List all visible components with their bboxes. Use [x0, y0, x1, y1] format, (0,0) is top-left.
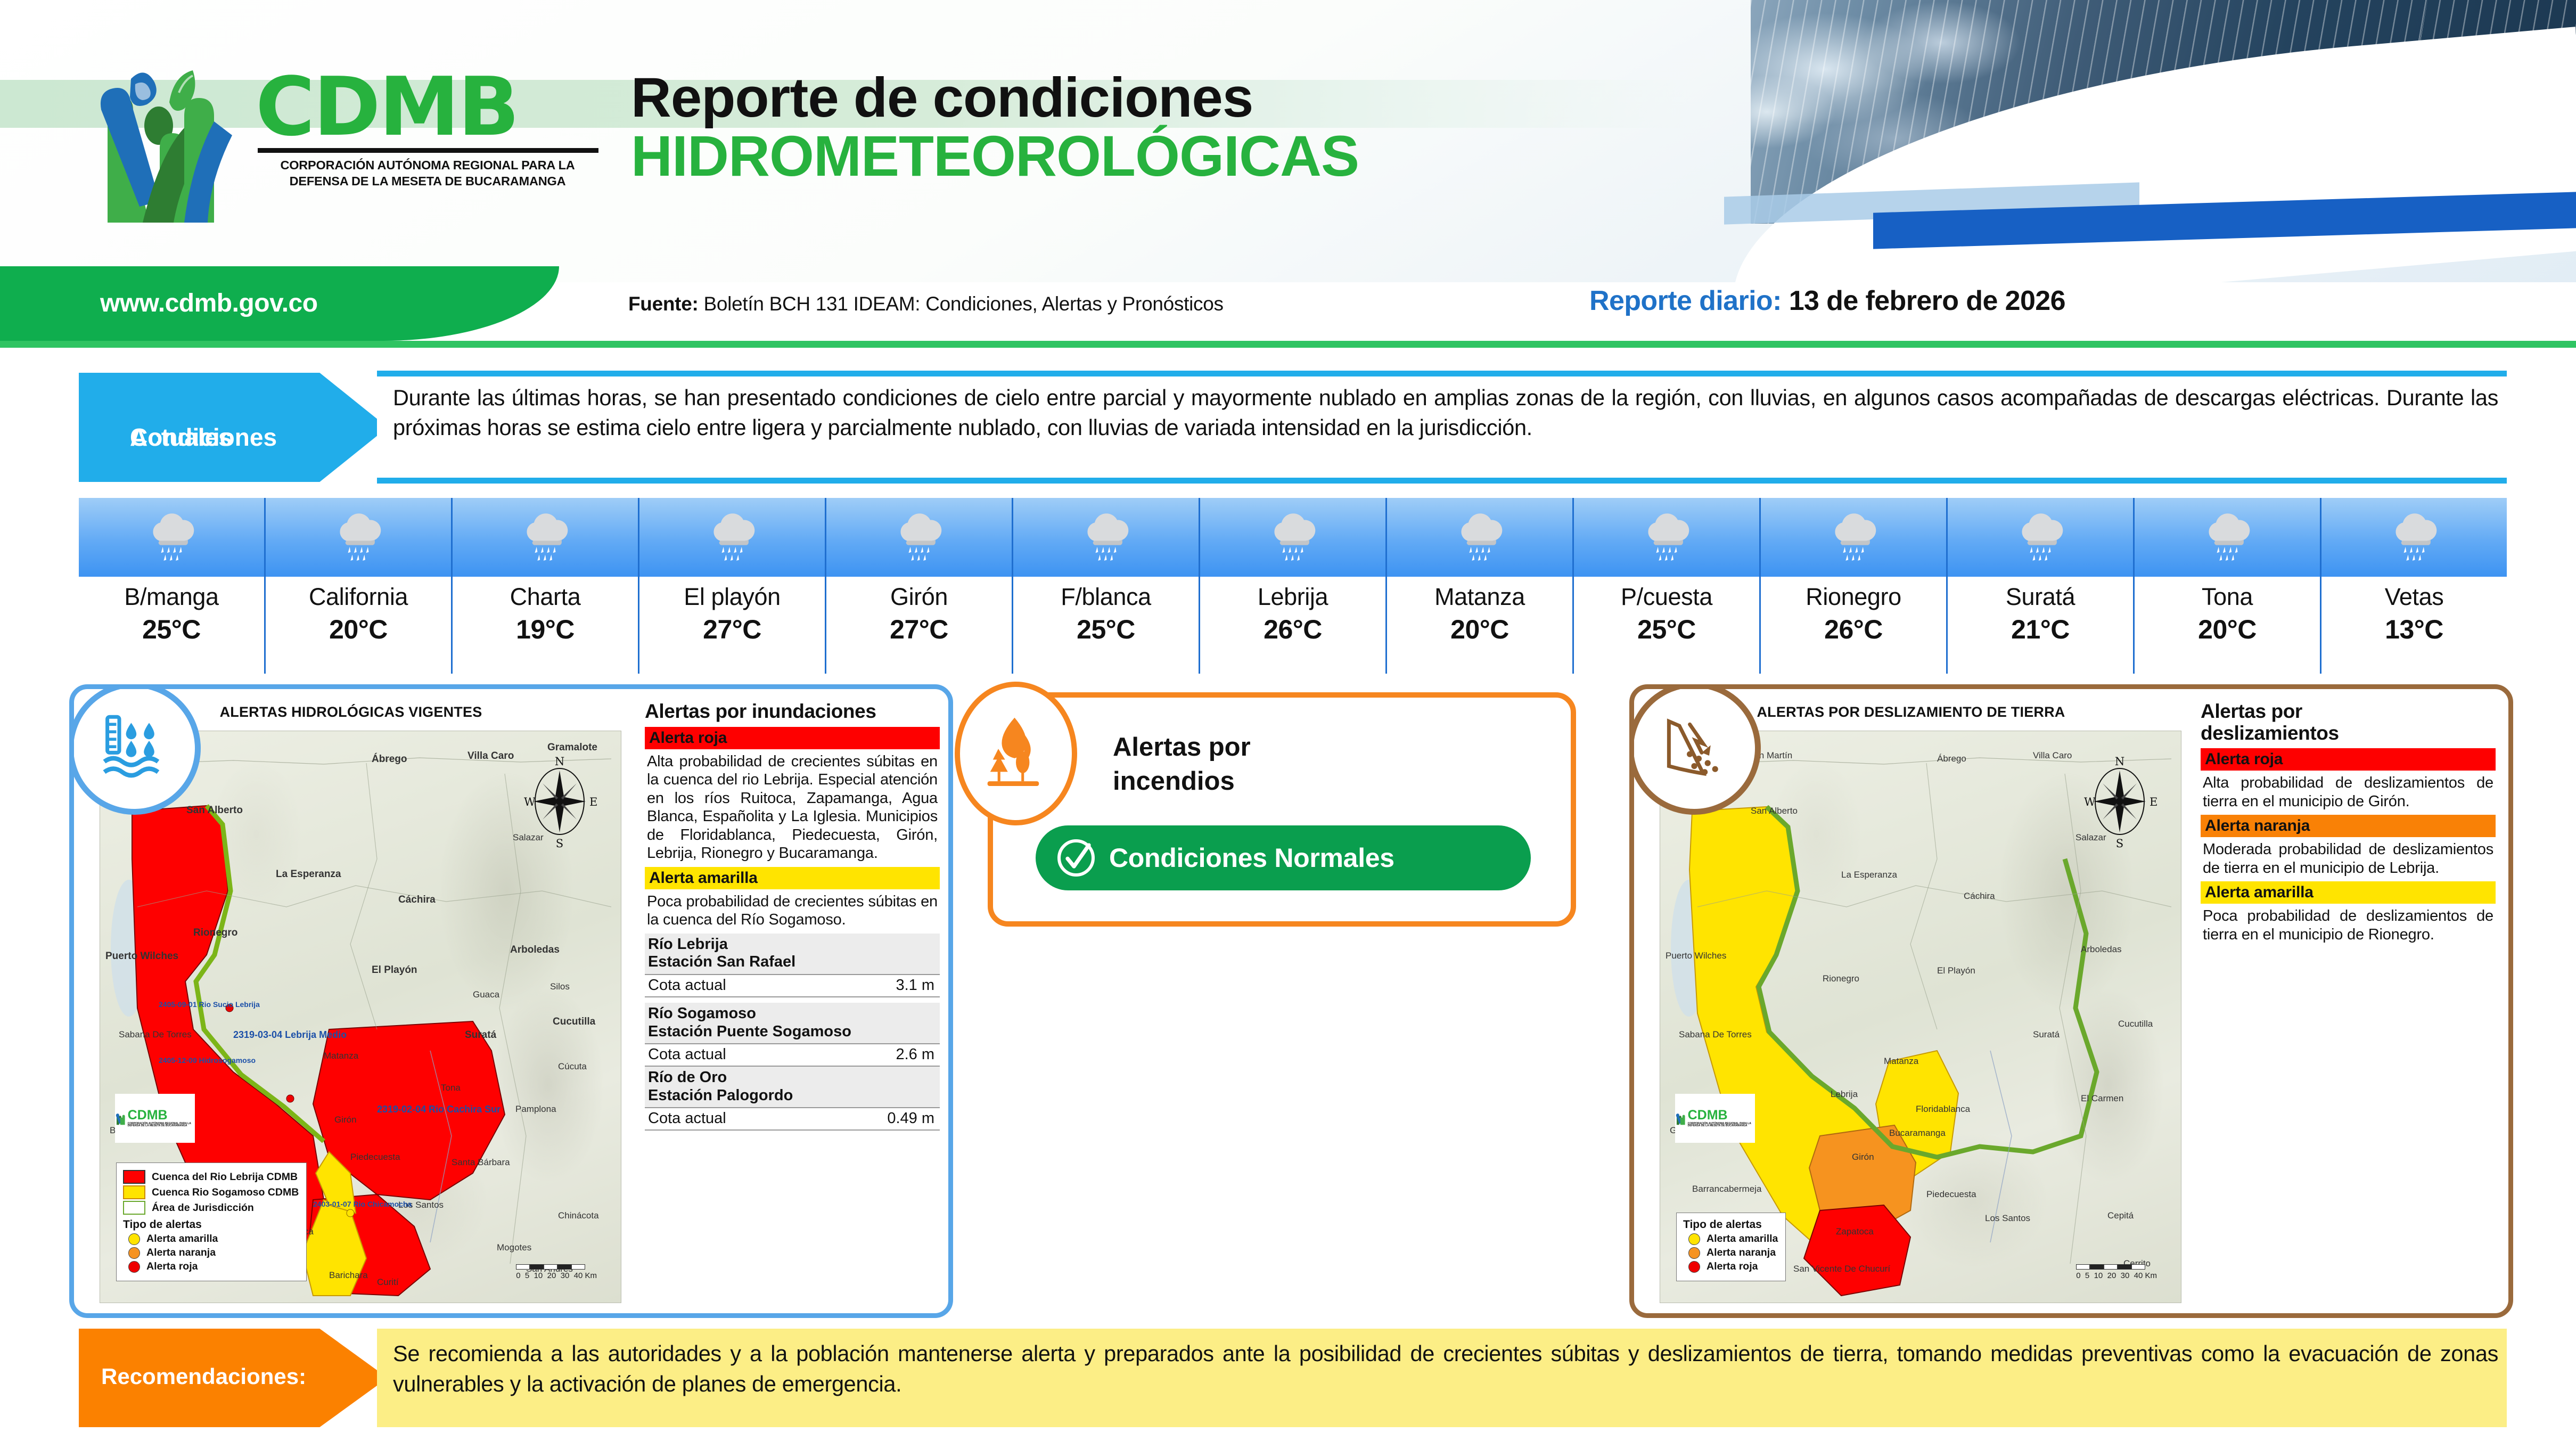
city-weather-icon-box — [2135, 498, 2320, 577]
rain-cloud-icon — [518, 510, 573, 565]
alert-text-red: Alta probabilidad de crecientes súbitas … — [645, 749, 940, 867]
map-label: Tona — [441, 1083, 461, 1093]
fire-title-line2: incendios — [1113, 765, 1251, 799]
map-label: Lebrija — [1831, 1089, 1858, 1100]
svg-text:E: E — [2150, 796, 2157, 808]
map-label: Sabana De Torres — [1679, 1029, 1752, 1040]
svg-text:W: W — [2084, 796, 2096, 808]
city-weather-icon-box — [1013, 498, 1199, 577]
fire-badge — [955, 682, 1077, 825]
map-cdmb-watermark: CDMBCORPORACIÓN AUTÓNOMA REGIONAL PARA L… — [1675, 1094, 1755, 1143]
rain-cloud-icon — [1826, 510, 1881, 565]
scalebar-ticks: 0 5 10 20 30 40 Km — [516, 1271, 597, 1280]
city-temperature: 25°C — [1574, 614, 1759, 645]
current-conditions-tag-line2: Actuales — [130, 422, 232, 453]
current-conditions-text: Durante las últimas horas, se han presen… — [377, 376, 2507, 442]
map-label: Santa Bárbara — [452, 1157, 510, 1168]
station-value: 0.49 m — [887, 1110, 934, 1127]
map-label: Villa Caro — [467, 750, 514, 762]
flood-map-legend: Cuenca del Rio Lebrija CDMB Cuenca Rio S… — [116, 1163, 307, 1281]
rain-cloud-icon — [1078, 510, 1134, 565]
map-label: Mogotes — [497, 1242, 531, 1253]
city-card: Suratá21°C — [1948, 498, 2135, 674]
city-name: Lebrija — [1200, 583, 1385, 611]
page-header: CDMB CORPORACIÓN AUTÓNOMA REGIONAL PARA … — [0, 0, 2576, 282]
fire-alerts-panel: Alertas por incendios Condiciones Normal… — [988, 692, 1576, 927]
map-label: Suratá — [465, 1029, 496, 1041]
map-label: La Esperanza — [276, 869, 341, 880]
map-label: Piedecuesta — [350, 1152, 400, 1163]
rain-cloud-icon — [704, 510, 760, 565]
city-weather-icon-box — [266, 498, 451, 577]
city-temperature: 27°C — [826, 614, 1012, 645]
map-label: Pamplona — [515, 1104, 556, 1115]
legend-swatch — [123, 1185, 145, 1199]
page-title: Reporte de condiciones HIDROMETEOROLÓGIC… — [631, 69, 1359, 186]
city-temperature: 26°C — [1761, 614, 1946, 645]
city-temperature: 25°C — [79, 614, 264, 645]
rain-cloud-icon — [2013, 510, 2068, 565]
map-label: Puerto Wilches — [105, 951, 178, 962]
fire-forest-icon — [981, 714, 1051, 793]
alert-band-red: Alerta roja — [2201, 748, 2496, 771]
legend-item: Alerta amarilla — [123, 1233, 299, 1245]
city-temperature-strip: B/manga25°C California20°C Charta19°C El… — [79, 498, 2507, 674]
map-label: El Playón — [1937, 965, 1975, 976]
logo-subtitle-line1: CORPORACIÓN AUTÓNOMA REGIONAL PARA LA — [256, 157, 600, 173]
svg-text:N: N — [2115, 755, 2124, 768]
city-weather-icon-box — [1761, 498, 1946, 577]
city-temperature: 19°C — [453, 614, 638, 645]
city-name: Tona — [2135, 583, 2320, 611]
map-label: Barrancabermeja — [1692, 1184, 1761, 1194]
alert-text-yellow: Poca probabilidad de crecientes súbitas … — [645, 889, 940, 934]
legend-label: Alerta naranja — [146, 1247, 216, 1259]
map-label: Matanza — [324, 1051, 358, 1061]
legend-label: Cuenca del Rio Lebrija CDMB — [152, 1171, 298, 1183]
basin-label: 2319-02-04 Rio Cachira Sur — [377, 1104, 501, 1115]
landslide-alerts-column: Alertas por deslizamientos Alerta roja A… — [2194, 693, 2503, 1311]
legend-label: Alerta roja — [146, 1260, 198, 1273]
legend-types-title: Tipo de alertas — [123, 1218, 299, 1231]
city-name: Suratá — [1948, 583, 2133, 611]
station-header: Río Lebrija Estación San Rafael — [645, 934, 940, 974]
city-weather-icon-box — [1387, 498, 1572, 577]
city-temperature: 20°C — [266, 614, 451, 645]
page-title-line2: HIDROMETEOROLÓGICAS — [631, 126, 1359, 186]
map-label: Arboledas — [510, 944, 560, 956]
city-card: Vetas13°C — [2321, 498, 2507, 674]
spacer — [645, 997, 940, 1003]
legend-dot — [1688, 1261, 1700, 1273]
cdmb-mini-logo-icon — [1675, 1106, 1686, 1131]
cdmb-mini-text: CDMBCORPORACIÓN AUTÓNOMA REGIONAL PARA L… — [1688, 1109, 1755, 1127]
legend-item: Cuenca Rio Sogamoso CDMB — [123, 1185, 299, 1199]
station-river: Río Sogamoso — [648, 1005, 937, 1023]
rain-cloud-icon — [144, 510, 199, 565]
scalebar-segments — [2076, 1264, 2157, 1270]
station-value: 3.1 m — [896, 977, 934, 994]
svg-text:S: S — [2116, 837, 2123, 848]
map-label: San Vicente De Chucurí — [1793, 1264, 1890, 1274]
alert-text-red: Alta probabilidad de deslizamientos de t… — [2201, 771, 2496, 815]
city-name: Vetas — [2321, 583, 2507, 611]
map-label: Cáchira — [1964, 891, 1995, 902]
map-label: Cepitá — [2107, 1210, 2134, 1221]
city-card: Charta19°C — [453, 498, 639, 674]
map-label: Cáchira — [398, 894, 436, 906]
check-circle-icon — [1055, 837, 1097, 879]
city-card: El playón27°C — [639, 498, 826, 674]
rain-cloud-icon — [1452, 510, 1507, 565]
logo-subtitle-line2: DEFENSA DE LA MESETA DE BUCARAMANGA — [256, 173, 600, 189]
legend-item: Alerta naranja — [1683, 1247, 1778, 1259]
city-weather-icon-box — [2321, 498, 2507, 577]
rain-cloud-icon — [1639, 510, 1694, 565]
map-label: Barichara — [329, 1270, 368, 1281]
map-label: Los Santos — [1985, 1213, 2030, 1224]
city-card: Matanza20°C — [1387, 498, 1574, 674]
report-date-label: Reporte diario: — [1589, 285, 1782, 316]
legend-label: Alerta amarilla — [146, 1233, 218, 1245]
scalebar-ticks: 0 5 10 20 30 40 Km — [2076, 1271, 2157, 1280]
legend-item: Cuenca del Rio Lebrija CDMB — [123, 1170, 299, 1184]
recommendations-body: Se recomienda a las autoridades y a la p… — [377, 1329, 2507, 1427]
map-label: Rionegro — [193, 927, 237, 939]
rain-cloud-icon — [2386, 510, 2442, 565]
city-name: Girón — [826, 583, 1012, 611]
recommendations-tag-label: Recomendaciones: — [101, 1364, 306, 1389]
legend-types-title: Tipo de alertas — [1683, 1218, 1778, 1231]
station-row: Cota actual 0.49 m — [645, 1107, 940, 1131]
legend-label: Área de Jurisdicción — [152, 1202, 254, 1214]
legend-swatch — [123, 1170, 145, 1184]
station-row: Cota actual 3.1 m — [645, 974, 940, 997]
station-value: 2.6 m — [896, 1046, 934, 1063]
map-label: San Alberto — [186, 805, 243, 816]
alert-text-yellow: Poca probabilidad de deslizamientos de t… — [2201, 904, 2496, 948]
legend-dot — [128, 1247, 140, 1259]
legend-label: Alerta roja — [1707, 1260, 1758, 1273]
map-label: Puerto Wilches — [1666, 951, 1726, 961]
flood-alerts-panel: ALERTAS HIDROLÓGICAS VIGENTES San M — [69, 684, 953, 1318]
landslide-badge — [1629, 684, 1761, 815]
city-name: California — [266, 583, 451, 611]
basin-label: 2405-12-00 Hidrosogamoso — [159, 1056, 256, 1065]
map-label: Curití — [377, 1277, 399, 1288]
map-label: Villa Caro — [2033, 750, 2072, 761]
legend-label: Alerta naranja — [1707, 1247, 1776, 1259]
map-label: Guaca — [473, 989, 499, 1000]
alert-band-yellow: Alerta amarilla — [2201, 881, 2496, 904]
rain-cloud-icon — [1265, 510, 1320, 565]
cdmb-mini-logo-icon — [115, 1106, 126, 1131]
station-metric: Cota actual — [648, 1110, 726, 1127]
map-label: Ábrego — [1937, 754, 1966, 764]
legend-item: Alerta roja — [123, 1260, 299, 1273]
flood-alerts-heading: Alertas por inundaciones — [645, 701, 940, 723]
alert-text-orange: Moderada probabilidad de deslizamientos … — [2201, 837, 2496, 881]
station-river: Río Lebrija — [648, 936, 937, 954]
city-weather-icon-box — [1574, 498, 1759, 577]
report-date-value: 13 de febrero de 2026 — [1789, 285, 2065, 316]
fire-status-badge[interactable]: Condiciones Normales — [1036, 825, 1531, 890]
basin-label: 2405-09-01 Rio Sucio Lebrija — [159, 1000, 260, 1009]
svg-text:W: W — [524, 796, 536, 808]
map-label: Sabana De Torres — [119, 1029, 192, 1040]
legend-label: Alerta amarilla — [1707, 1233, 1778, 1245]
map-label: Matanza — [1884, 1056, 1918, 1067]
alert-band-orange: Alerta naranja — [2201, 815, 2496, 837]
landslide-icon — [1657, 711, 1732, 785]
city-weather-icon-box — [453, 498, 638, 577]
report-date-line: Reporte diario: 13 de febrero de 2026 — [1589, 285, 2065, 317]
current-conditions-body: Durante las últimas horas, se han presen… — [377, 371, 2507, 484]
map-label: Girón — [334, 1115, 357, 1125]
city-weather-icon-box — [826, 498, 1012, 577]
city-temperature: 21°C — [1948, 614, 2133, 645]
landslide-map-legend: Tipo de alertas Alerta amarilla Alerta n… — [1676, 1213, 1786, 1281]
recommendations-text: Se recomienda a las autoridades y a la p… — [377, 1329, 2507, 1399]
map-label: Girón — [1852, 1152, 1874, 1163]
map-label: El Playón — [372, 964, 417, 976]
source-bar: www.cdmb.gov.co Fuente: Boletín BCH 131 … — [0, 266, 2576, 341]
legend-item: Alerta amarilla — [1683, 1233, 1778, 1245]
page-title-line1: Reporte de condiciones — [631, 69, 1359, 126]
map-label: Piedecuesta — [1926, 1189, 1976, 1200]
station-metric: Cota actual — [648, 977, 726, 994]
source-text: Fuente: Boletín BCH 131 IDEAM: Condicion… — [628, 293, 1224, 315]
fire-title-line1: Alertas por — [1113, 731, 1251, 765]
landslide-map-canvas: San Martin San Martín Ábrego Villa Caro … — [1660, 731, 2181, 1303]
map-label: Zapatoca — [1836, 1226, 1874, 1237]
city-weather-icon-box — [1948, 498, 2133, 577]
alert-band-red: Alerta roja — [645, 727, 940, 749]
city-card: F/blanca25°C — [1013, 498, 1200, 674]
flood-map-canvas: San Martín Ábrego Villa Caro Gramalote S… — [100, 731, 621, 1303]
city-card: Tona20°C — [2135, 498, 2321, 674]
landslide-alerts-heading: Alertas por deslizamientos — [2201, 701, 2496, 744]
map-label: El Carmen — [2081, 1093, 2123, 1104]
city-weather-icon-box — [639, 498, 825, 577]
city-card: California20°C — [266, 498, 453, 674]
current-conditions-section: Condiciones Actuales Durante las últimas… — [79, 373, 2507, 487]
station-name: Estación Puente Sogamoso — [648, 1023, 937, 1041]
legend-item: Área de Jurisdicción — [123, 1201, 299, 1215]
current-conditions-tag: Condiciones Actuales — [79, 373, 388, 482]
fire-alerts-title: Alertas por incendios — [1113, 731, 1251, 798]
map-cdmb-watermark: CDMBCORPORACIÓN AUTÓNOMA REGIONAL PARA L… — [115, 1094, 195, 1143]
scalebar-segments — [516, 1264, 597, 1270]
city-card: P/cuesta25°C — [1574, 498, 1761, 674]
map-label: La Esperanza — [1841, 870, 1897, 880]
source-value: Boletín BCH 131 IDEAM: Condiciones, Aler… — [704, 293, 1224, 315]
map-label: Bucaramanga — [1889, 1128, 1946, 1139]
water-level-badge — [69, 684, 201, 815]
station-name: Estación San Rafael — [648, 953, 937, 971]
city-name: Matanza — [1387, 583, 1572, 611]
city-name: F/blanca — [1013, 583, 1199, 611]
city-weather-icon-box — [1200, 498, 1385, 577]
water-level-icon — [97, 711, 171, 785]
map-label: Cúcuta — [558, 1061, 587, 1072]
city-card: Girón27°C — [826, 498, 1013, 674]
svg-text:N: N — [555, 755, 564, 768]
station-header: Río Sogamoso Estación Puente Sogamoso — [645, 1003, 940, 1043]
flood-alerts-column: Alertas por inundaciones Alerta roja Alt… — [638, 693, 947, 1311]
legend-item: Alerta naranja — [123, 1247, 299, 1259]
city-name: Charta — [453, 583, 638, 611]
flood-map-scalebar: 0 5 10 20 30 40 Km — [516, 1264, 597, 1280]
legend-dot — [1688, 1247, 1700, 1259]
map-label: Cucutilla — [2118, 1019, 2153, 1029]
city-temperature: 26°C — [1200, 614, 1385, 645]
basin-label: 2319-03-04 Lebrija Medio — [233, 1029, 347, 1041]
recommendations-section: Recomendaciones: Se recomienda a las aut… — [79, 1329, 2507, 1427]
city-weather-icon-box — [79, 498, 264, 577]
city-card: B/manga25°C — [79, 498, 266, 674]
map-label: Arboledas — [2081, 944, 2122, 955]
basin-label: 2403-01-07 Rio Chicamocha — [313, 1200, 412, 1208]
map-label: Gramalote — [547, 742, 597, 754]
alert-band-yellow: Alerta amarilla — [645, 867, 940, 889]
cdmb-logo-mark-icon — [80, 47, 256, 223]
landslide-map-scalebar: 0 5 10 20 30 40 Km — [2076, 1264, 2157, 1280]
city-temperature: 20°C — [2135, 614, 2320, 645]
cdmb-logo: CDMB CORPORACIÓN AUTÓNOMA REGIONAL PARA … — [80, 47, 639, 223]
logo-acronym: CDMB — [256, 68, 639, 146]
map-label: Silos — [550, 981, 570, 992]
map-label: Suratá — [2033, 1029, 2060, 1040]
city-name: P/cuesta — [1574, 583, 1759, 611]
compass-rose-icon: N S W E — [2080, 752, 2160, 848]
rain-cloud-icon — [891, 510, 947, 565]
recommendations-tag: Recomendaciones: — [79, 1329, 388, 1427]
svg-text:E: E — [589, 796, 597, 808]
map-label: Rionegro — [1823, 973, 1859, 984]
landslide-alerts-panel: ALERTAS POR DESLIZAMIENTO DE TIERRA San … — [1629, 684, 2513, 1318]
map-label: Ábrego — [372, 754, 407, 765]
source-label: Fuente: — [628, 293, 699, 315]
map-label: San Alberto — [1751, 806, 1798, 816]
svg-text:S: S — [556, 837, 563, 848]
station-row: Cota actual 2.6 m — [645, 1043, 940, 1067]
legend-item: Alerta roja — [1683, 1260, 1778, 1273]
city-temperature: 20°C — [1387, 614, 1572, 645]
city-temperature: 13°C — [2321, 614, 2507, 645]
landslide-heading-line1: Alertas por — [2201, 701, 2496, 723]
website-url[interactable]: www.cdmb.gov.co — [100, 289, 318, 318]
rain-cloud-icon — [331, 510, 386, 565]
city-temperature: 25°C — [1013, 614, 1199, 645]
green-divider-rule — [0, 341, 2576, 348]
station-name: Estación Palogordo — [648, 1087, 937, 1105]
city-temperature: 27°C — [639, 614, 825, 645]
legend-dot — [128, 1261, 140, 1273]
cdmb-mini-text: CDMBCORPORACIÓN AUTÓNOMA REGIONAL PARA L… — [128, 1109, 195, 1127]
station-metric: Cota actual — [648, 1046, 726, 1063]
map-label: Chinácota — [558, 1210, 599, 1221]
city-card: Rionegro26°C — [1761, 498, 1948, 674]
legend-dot — [128, 1233, 140, 1245]
compass-rose-icon: N S W E — [520, 752, 600, 848]
station-header: Río de Oro Estación Palogordo — [645, 1067, 940, 1107]
map-label: Cucutilla — [553, 1016, 595, 1028]
landslide-heading-line2: deslizamientos — [2201, 723, 2496, 744]
city-name: El playón — [639, 583, 825, 611]
fire-status-text: Condiciones Normales — [1109, 842, 1394, 873]
map-label: Floridablanca — [1916, 1104, 1970, 1115]
station-river: Río de Oro — [648, 1069, 937, 1087]
city-name: Rionegro — [1761, 583, 1946, 611]
city-card: Lebrija26°C — [1200, 498, 1387, 674]
legend-swatch — [123, 1201, 145, 1215]
rain-cloud-icon — [2200, 510, 2255, 565]
legend-label: Cuenca Rio Sogamoso CDMB — [152, 1186, 299, 1199]
city-name: B/manga — [79, 583, 264, 611]
legend-dot — [1688, 1233, 1700, 1245]
